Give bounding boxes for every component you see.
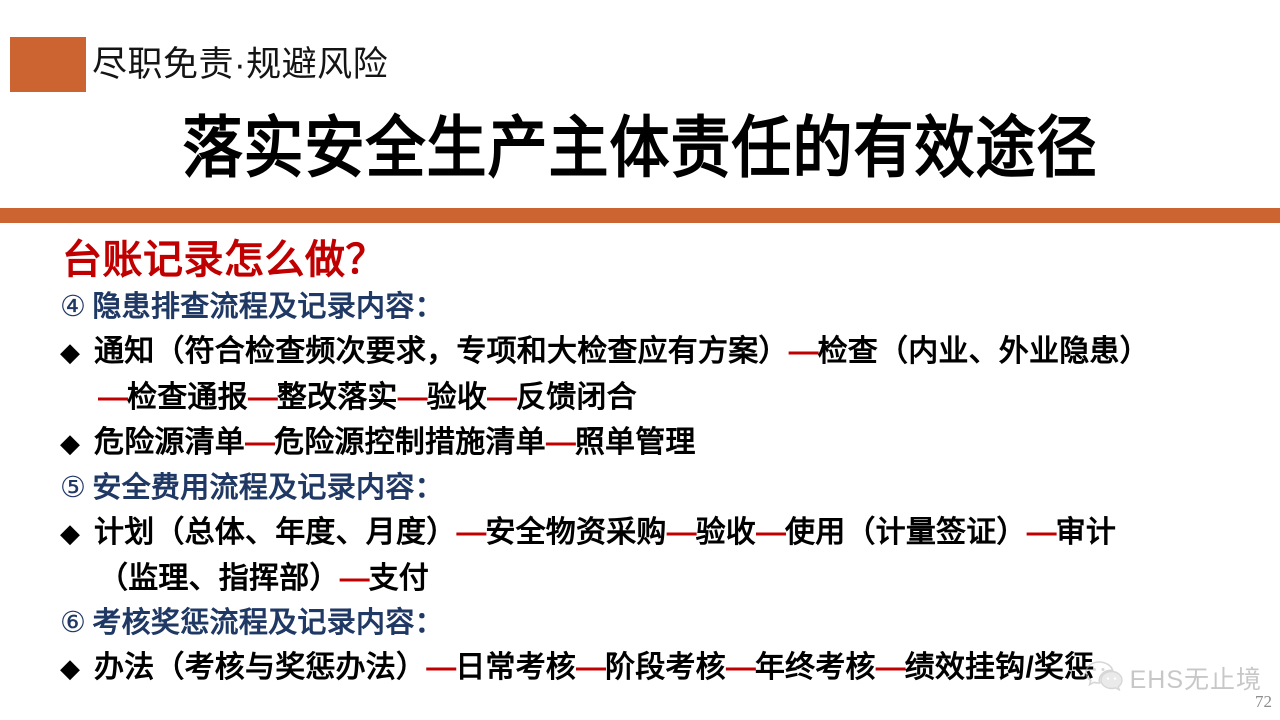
flow-step-label: 审计 <box>1056 516 1116 549</box>
flow-connector-dash: — <box>667 516 696 549</box>
slide-header: 尽职免责·规避风险 落实安全生产主体责任的有效途径 <box>0 0 1280 208</box>
circled-number: ⑤ <box>60 466 86 510</box>
flow-step-label: 检查通报 <box>127 381 248 414</box>
slide-body: 台账记录怎么做？ ④隐患排查流程及记录内容：◆通知（符合检查频次要求，专项和大检… <box>0 223 1280 720</box>
bullet-row: ◆办法（考核与奖惩办法）—日常考核—阶段考核—年终考核—绩效挂钩/奖惩 <box>0 645 1280 691</box>
flow-connector-dash: — <box>1027 516 1056 549</box>
diamond-bullet-icon: ◆ <box>60 330 94 375</box>
flow-step-label: 阶段考核 <box>605 651 726 684</box>
flow-step-label: 检查（内业、外业隐患） <box>818 335 1150 368</box>
flow-step-label: 年终考核 <box>755 651 876 684</box>
flow-connector-dash: — <box>576 651 605 684</box>
flow-connector-dash: — <box>456 516 485 549</box>
flow-connector-dash: — <box>756 516 785 549</box>
bullet-row: ◆危险源清单—危险源控制措施清单—照单管理 <box>0 420 1280 466</box>
flow-step-label: 办法（考核与奖惩办法） <box>94 651 426 684</box>
section-heading: 台账记录怎么做？ <box>62 234 386 286</box>
flow-connector-dash: — <box>98 381 127 414</box>
group-heading-label: 隐患排查流程及记录内容： <box>92 291 444 323</box>
flow-connector-dash: — <box>398 381 427 414</box>
flow-connector-dash: — <box>546 426 575 459</box>
flow-step-label: 危险源控制措施清单 <box>274 426 546 459</box>
flow-step-label: 计划（总体、年度、月度） <box>94 516 456 549</box>
flow-step-label: 支付 <box>369 562 429 595</box>
flow-connector-dash: — <box>340 562 369 595</box>
flow-connector-dash: — <box>487 381 516 414</box>
flow-connector-dash: — <box>426 651 455 684</box>
header-subtitle: 尽职免责·规避风险 <box>92 37 388 92</box>
flow-step-label: 反馈闭合 <box>516 381 637 414</box>
flow-step-label: 整改落实 <box>277 381 398 414</box>
diamond-bullet-icon: ◆ <box>60 511 94 556</box>
flow-connector-dash: — <box>789 335 818 368</box>
content-list: ④隐患排查流程及记录内容：◆通知（符合检查频次要求，专项和大检查应有方案）—检查… <box>0 285 1280 691</box>
flow-step-label: （监理、指挥部） <box>98 562 340 595</box>
group-heading: ⑤安全费用流程及记录内容： <box>0 466 1280 510</box>
diamond-bullet-icon: ◆ <box>60 421 94 466</box>
orange-square-marker-icon <box>10 37 86 92</box>
bullet-row-continuation: （监理、指挥部）—支付 <box>0 556 1280 601</box>
flow-connector-dash: — <box>248 381 277 414</box>
page-number: 72 <box>1255 692 1272 712</box>
flow-step-label: 验收 <box>696 516 756 549</box>
bullet-row: ◆通知（符合检查频次要求，专项和大检查应有方案）—检查（内业、外业隐患） <box>0 329 1280 375</box>
flow-step-label: 绩效挂钩/奖惩 <box>905 651 1095 684</box>
flow-step-label: 使用（计量签证） <box>785 516 1027 549</box>
flow-step-label: 通知（符合检查频次要求，专项和大检查应有方案） <box>94 335 789 368</box>
flow-step-label: 验收 <box>427 381 487 414</box>
orange-divider-bar <box>0 208 1280 223</box>
flow-step-label: 照单管理 <box>575 426 696 459</box>
bullet-row-continuation: —检查通报—整改落实—验收—反馈闭合 <box>0 375 1280 420</box>
flow-connector-dash: — <box>876 651 905 684</box>
flow-step-label: 日常考核 <box>455 651 576 684</box>
flow-connector-dash: — <box>245 426 274 459</box>
flow-connector-dash: — <box>726 651 755 684</box>
group-heading: ⑥考核奖惩流程及记录内容： <box>0 601 1280 645</box>
bullet-row: ◆计划（总体、年度、月度）—安全物资采购—验收—使用（计量签证）—审计 <box>0 510 1280 556</box>
diamond-bullet-icon: ◆ <box>60 646 94 691</box>
group-heading-label: 安全费用流程及记录内容： <box>92 472 444 504</box>
flow-step-label: 安全物资采购 <box>485 516 666 549</box>
circled-number: ⑥ <box>60 601 86 645</box>
page-title: 落实安全生产主体责任的有效途径 <box>0 104 1280 194</box>
group-heading: ④隐患排查流程及记录内容： <box>0 285 1280 329</box>
group-heading-label: 考核奖惩流程及记录内容： <box>92 607 444 639</box>
circled-number: ④ <box>60 285 86 329</box>
flow-step-label: 危险源清单 <box>94 426 245 459</box>
